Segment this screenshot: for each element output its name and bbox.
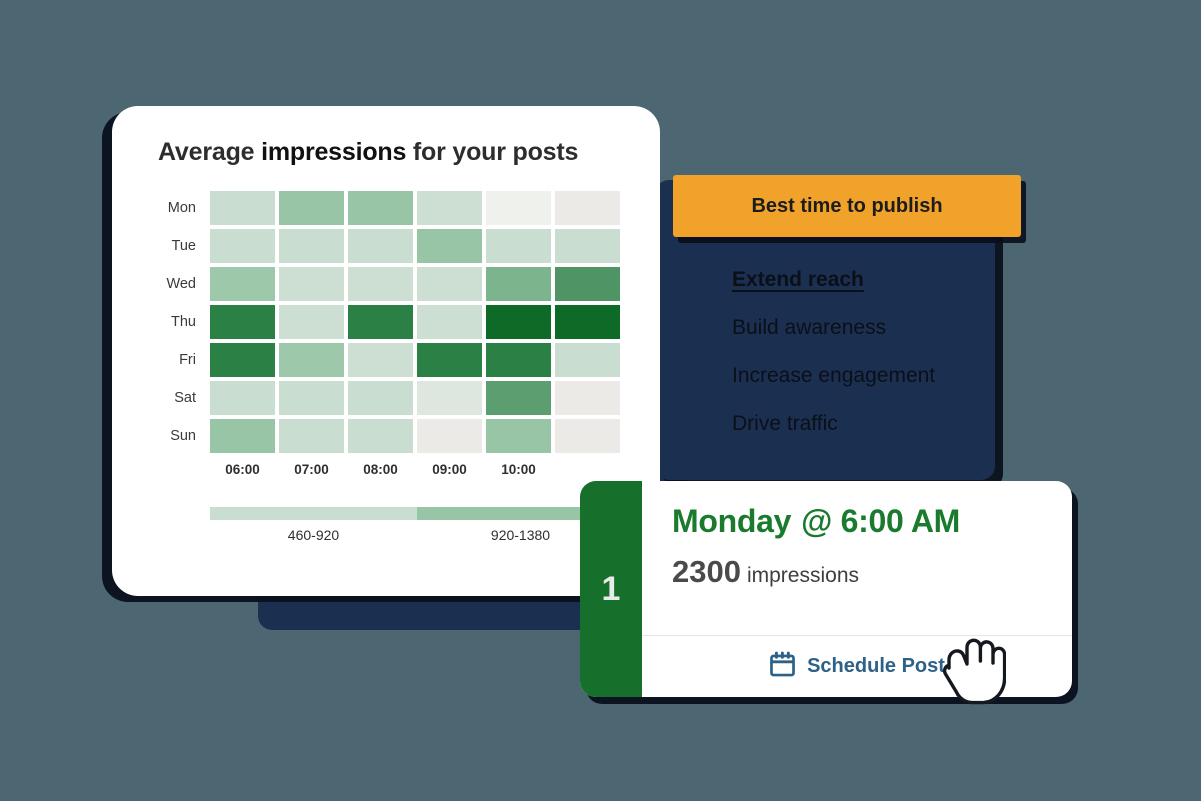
heatmap-title-suffix: for your posts [406, 138, 578, 166]
impressions-metric: 2300impressions [672, 554, 1072, 590]
heatmap-cell[interactable] [417, 229, 482, 263]
heatmap-row: Tue [158, 227, 658, 265]
heatmap-day-label: Thu [158, 314, 210, 330]
legend-range-label: 460-920 [210, 527, 417, 543]
heatmap-cell[interactable] [348, 343, 413, 377]
goal-item-drive-traffic[interactable]: Drive traffic [732, 412, 982, 436]
heatmap-cell[interactable] [210, 381, 275, 415]
hand-pointer-cursor [936, 634, 1006, 708]
heatmap-cell[interactable] [279, 229, 344, 263]
heatmap-cell[interactable] [348, 191, 413, 225]
best-time-day: Monday [672, 503, 791, 539]
heatmap-title-emphasis: impressions [261, 138, 406, 166]
heatmap-cell[interactable] [486, 343, 551, 377]
heatmap-cell[interactable] [210, 229, 275, 263]
heatmap-day-label: Wed [158, 276, 210, 292]
calendar-icon [769, 651, 796, 683]
best-time-time: @ 6:00 AM [801, 503, 960, 539]
heatmap-x-tick [555, 462, 620, 477]
best-time-card-main: Monday@ 6:00 AM 2300impressions [642, 481, 1072, 635]
heatmap-cell[interactable] [417, 305, 482, 339]
heatmap-cell[interactable] [486, 419, 551, 453]
goal-item-extend-reach[interactable]: Extend reach [732, 268, 982, 292]
heatmap-row-cells [210, 305, 620, 339]
heatmap-row: Sun [158, 417, 658, 455]
heatmap-cell[interactable] [555, 191, 620, 225]
heatmap-row: Mon [158, 189, 658, 227]
heatmap-cell[interactable] [279, 191, 344, 225]
heatmap-cell[interactable] [348, 419, 413, 453]
heatmap-x-tick: 07:00 [279, 462, 344, 477]
heatmap-cell[interactable] [417, 267, 482, 301]
legend-range-labels: 460-920920-1380 [210, 527, 624, 543]
impressions-count: 2300 [672, 554, 741, 589]
heatmap-cell[interactable] [417, 419, 482, 453]
heatmap-cell[interactable] [210, 419, 275, 453]
heatmap-row: Thu [158, 303, 658, 341]
heatmap-cell[interactable] [486, 267, 551, 301]
heatmap-cell[interactable] [279, 305, 344, 339]
heatmap-x-tick: 09:00 [417, 462, 482, 477]
heatmap-cell[interactable] [417, 381, 482, 415]
heatmap-day-label: Fri [158, 352, 210, 368]
impressions-heatmap-card: Average impressions for your posts MonTu… [112, 106, 660, 596]
heatmap-cell[interactable] [279, 267, 344, 301]
heatmap-cell[interactable] [555, 343, 620, 377]
best-time-card-body: Monday@ 6:00 AM 2300impressions Schedule… [642, 481, 1072, 697]
heatmap-cell[interactable] [279, 419, 344, 453]
publishing-goal-list: Extend reachBuild awarenessIncrease enga… [732, 268, 982, 460]
heatmap-cell[interactable] [417, 191, 482, 225]
heatmap-cell[interactable] [348, 305, 413, 339]
heatmap-cell[interactable] [348, 381, 413, 415]
heatmap-day-label: Mon [158, 200, 210, 216]
heatmap-cell[interactable] [417, 343, 482, 377]
heatmap-x-tick: 10:00 [486, 462, 551, 477]
legend-segment [210, 507, 417, 520]
heatmap-x-tick: 06:00 [210, 462, 275, 477]
heatmap-day-label: Sat [158, 390, 210, 406]
heatmap-cell[interactable] [486, 191, 551, 225]
heatmap-cell[interactable] [348, 267, 413, 301]
heatmap-cell[interactable] [555, 305, 620, 339]
heatmap-cell[interactable] [555, 229, 620, 263]
heatmap-row: Fri [158, 341, 658, 379]
heatmap-x-axis: 06:0007:0008:0009:0010:00 [210, 462, 658, 477]
impressions-unit: impressions [747, 564, 859, 587]
heatmap-row: Sat [158, 379, 658, 417]
rank-badge: 1 [580, 481, 642, 697]
heatmap-row-cells [210, 343, 620, 377]
heatmap-row-cells [210, 267, 620, 301]
heatmap-cell[interactable] [555, 381, 620, 415]
schedule-post-label: Schedule Post [807, 655, 945, 678]
heatmap-cell[interactable] [279, 381, 344, 415]
heatmap-cell[interactable] [486, 229, 551, 263]
heatmap-row-cells [210, 229, 620, 263]
heatmap-title-prefix: Average [158, 138, 261, 166]
heatmap-cell[interactable] [210, 191, 275, 225]
heatmap-cell[interactable] [210, 267, 275, 301]
heatmap-row-cells [210, 191, 620, 225]
heatmap-cell[interactable] [486, 381, 551, 415]
best-time-to-publish-button[interactable]: Best time to publish [673, 175, 1021, 237]
heatmap-x-tick: 08:00 [348, 462, 413, 477]
screenshot-stage: Average impressions for your posts MonTu… [0, 0, 1201, 801]
heatmap-row-cells [210, 381, 620, 415]
heatmap-cell[interactable] [555, 419, 620, 453]
schedule-post-button[interactable]: Schedule Post [642, 635, 1072, 697]
heatmap-cell[interactable] [279, 343, 344, 377]
goal-item-increase-engagement[interactable]: Increase engagement [732, 364, 982, 388]
heatmap-cell[interactable] [555, 267, 620, 301]
best-time-headline: Monday@ 6:00 AM [672, 503, 1072, 540]
heatmap-row-cells [210, 419, 620, 453]
heatmap-title: Average impressions for your posts [158, 138, 578, 167]
heatmap-day-label: Tue [158, 238, 210, 254]
heatmap-row: Wed [158, 265, 658, 303]
goal-item-build-awareness[interactable]: Build awareness [732, 316, 982, 340]
heatmap-cell[interactable] [348, 229, 413, 263]
legend-color-bar [210, 507, 624, 520]
heatmap-cell[interactable] [210, 305, 275, 339]
heatmap-cell[interactable] [210, 343, 275, 377]
heatmap-day-label: Sun [158, 428, 210, 444]
heatmap-cell[interactable] [486, 305, 551, 339]
